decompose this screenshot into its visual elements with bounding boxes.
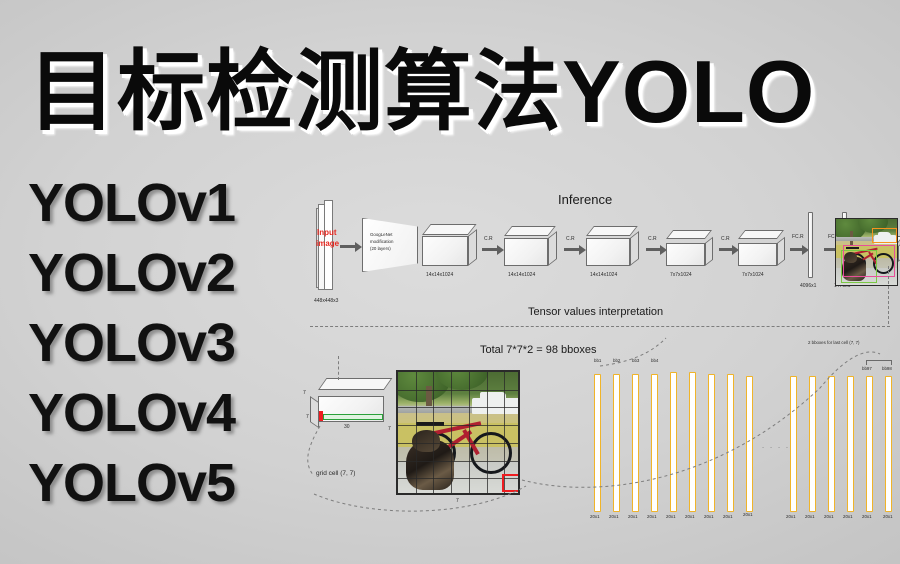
conv-block-5-dims: 7x7x1024 — [742, 272, 764, 278]
fc-bar-1 — [808, 212, 813, 278]
conv-block-4 — [666, 230, 714, 266]
input-image-label-2: image — [316, 239, 339, 248]
conv-op-2: C.R — [566, 236, 575, 242]
googlenet-block — [362, 218, 418, 272]
version-list: YOLOv1 YOLOv2 YOLOv3 YOLOv4 YOLOv5 — [28, 168, 318, 518]
conv-block-2-dims: 14x14x1024 — [508, 272, 535, 278]
conv-op-4: C.R — [721, 236, 730, 242]
conv-op-1: C.R — [484, 236, 493, 242]
backbone-name-1: GoogLeNet — [370, 232, 392, 237]
page-title: 目标检测算法YOLO — [28, 36, 878, 148]
conv-block-1-dims: 14x14x1024 — [426, 272, 453, 278]
version-item-1: YOLOv1 — [28, 168, 318, 238]
conv-block-5 — [738, 230, 786, 266]
input-image-label-1: Input — [317, 228, 337, 237]
version-item-2: YOLOv2 — [28, 238, 318, 308]
connector-reshape-down — [888, 266, 889, 324]
version-item-4: YOLOv4 — [28, 378, 318, 448]
conv-block-2 — [504, 226, 558, 266]
conv-block-3-dims: 14x14x1024 — [590, 272, 617, 278]
input-dims-label: 448x448x3 — [314, 298, 338, 304]
detection-box-car — [872, 228, 897, 243]
arrow-conv-2 — [564, 248, 580, 251]
arrow-fc-1 — [790, 248, 803, 251]
backbone-name-3: (20 layers) — [370, 246, 391, 251]
version-item-5: YOLOv5 — [28, 448, 318, 518]
fc-dims-1: 4096x1 — [800, 283, 816, 289]
yolo-architecture-diagram: Inference Input image 448x448x3 GoogLeNe… — [300, 178, 900, 564]
arrow-conv-3 — [646, 248, 661, 251]
inference-title: Inference — [558, 192, 612, 207]
fc-op-2: FC — [828, 234, 835, 240]
version-item-3: YOLOv3 — [28, 308, 318, 378]
arrow-conv-4 — [719, 248, 733, 251]
arrow-input-to-backbone — [340, 245, 356, 248]
connector-curve-lastcell — [300, 328, 900, 528]
tensor-interpretation-title: Tensor values interpretation — [528, 306, 663, 318]
separator-dashed — [310, 326, 890, 327]
arrow-conv-1 — [482, 248, 498, 251]
backbone-name-2: modification — [370, 239, 393, 244]
conv-block-1 — [422, 224, 476, 266]
conv-op-3: C.R — [648, 236, 657, 242]
conv-block-3 — [586, 226, 640, 266]
conv-block-4-dims: 7x7x1024 — [670, 272, 692, 278]
fc-op-1: FC.R — [792, 234, 804, 240]
